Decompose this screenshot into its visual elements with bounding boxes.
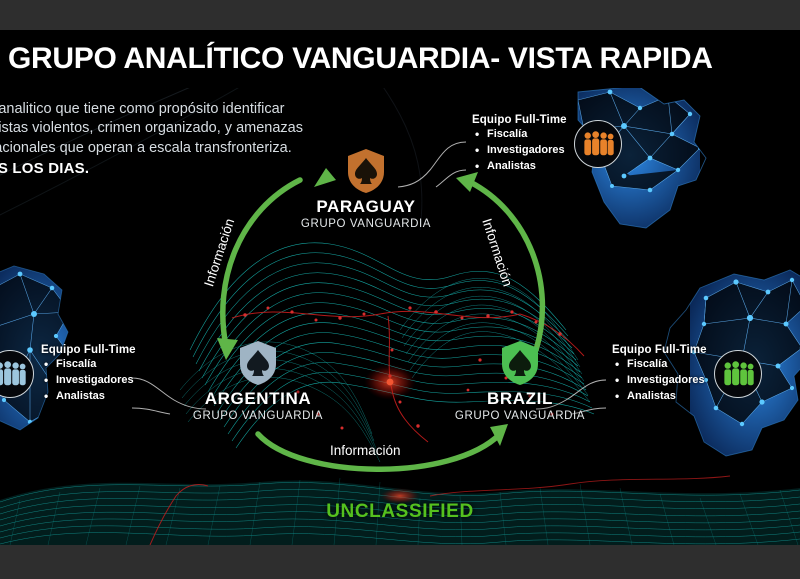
- spade-shield-icon: [238, 340, 278, 386]
- node-paraguay[interactable]: PARAGUAY GRUPO VANGUARDIA: [266, 148, 466, 230]
- slide-title-bar: GRUPO ANALÍTICO VANGUARDIA- VISTA RAPIDA: [0, 30, 800, 88]
- node-country-name: BRAZIL: [420, 389, 620, 409]
- team-role: Analistas: [475, 159, 567, 175]
- team-role: Fiscalía: [475, 127, 567, 143]
- team-role-list: Fiscalía Investigadores Analistas: [41, 357, 136, 405]
- team-heading: Equipo Full-Time: [41, 344, 136, 356]
- team-heading: Equipo Full-Time: [612, 344, 707, 356]
- team-heading: Equipo Full-Time: [472, 114, 567, 126]
- people-group-icon: [714, 350, 762, 398]
- slide-canvas: GRUPO ANALÍTICO VANGUARDIA- VISTA RAPIDA…: [0, 30, 800, 545]
- team-callout-brazil[interactable]: Equipo Full-Time Fiscalía Investigadores…: [612, 344, 762, 405]
- team-role: Investigadores: [475, 143, 567, 159]
- team-role-list: Fiscalía Investigadores Analistas: [612, 357, 707, 405]
- node-country-name: ARGENTINA: [158, 389, 358, 409]
- team-role: Fiscalía: [615, 357, 707, 373]
- spade-shield-icon: [346, 148, 386, 194]
- node-argentina[interactable]: ARGENTINA GRUPO VANGUARDIA: [158, 340, 358, 422]
- node-subtitle: GRUPO VANGUARDIA: [158, 410, 358, 422]
- description-line-2: extremistas violentos, crimen organizado…: [0, 119, 374, 138]
- node-subtitle: GRUPO VANGUARDIA: [420, 410, 620, 422]
- slide-viewer: GRUPO ANALÍTICO VANGUARDIA- VISTA RAPIDA…: [0, 0, 800, 579]
- node-country-name: PARAGUAY: [266, 197, 466, 217]
- node-subtitle: GRUPO VANGUARDIA: [266, 218, 466, 230]
- team-role: Analistas: [44, 389, 136, 405]
- node-brazil[interactable]: BRAZIL GRUPO VANGUARDIA: [420, 340, 620, 422]
- page-title: GRUPO ANALÍTICO VANGUARDIA- VISTA RAPIDA: [0, 42, 713, 76]
- description-line-1: Grupo analitico que tiene como propósito…: [0, 100, 374, 119]
- team-callout-paraguay[interactable]: Equipo Full-Time Fiscalía Investigadores…: [472, 114, 622, 175]
- spade-shield-icon: [500, 340, 540, 386]
- classification-banner: UNCLASSIFIED: [0, 501, 800, 523]
- team-role: Investigadores: [44, 373, 136, 389]
- people-group-icon: [0, 350, 34, 398]
- team-role: Investigadores: [615, 373, 707, 389]
- team-role: Analistas: [615, 389, 707, 405]
- team-role: Fiscalía: [44, 357, 136, 373]
- team-callout-argentina[interactable]: Equipo Full-Time Fiscalía Investigadores…: [0, 344, 136, 405]
- people-group-icon: [574, 120, 622, 168]
- flow-label-bottom: Información: [330, 443, 401, 458]
- team-role-list: Fiscalía Investigadores Analistas: [472, 127, 567, 175]
